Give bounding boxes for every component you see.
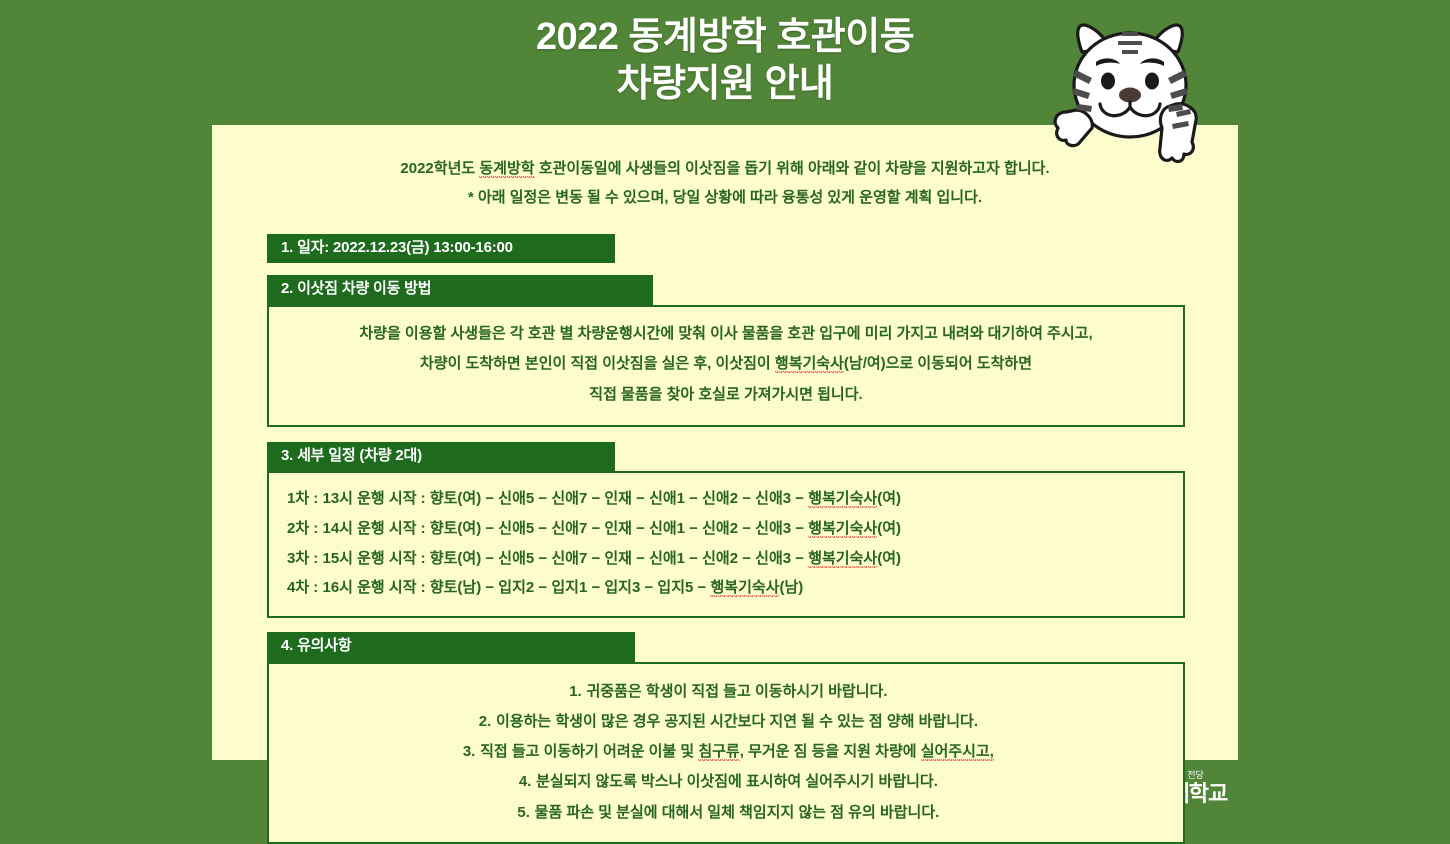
schedule-squiggle-term: 행복기숙사 [808,550,877,568]
schedule-row: 3차 : 15시 운행 시작 : 향토(여) − 신애5 − 신애7 − 인재 … [269,544,1183,574]
note-squiggle-term: 침구류 [698,743,739,761]
note-number: 4. [514,767,536,797]
intro-line-2: * 아래 일정은 변동 될 수 있으며, 당일 상황에 따라 융통성 있게 운영… [212,183,1238,212]
method-line-2: 차량이 도착하면 본인이 직접 이삿짐을 실은 후, 이삿짐이 행복기숙사(남/… [279,349,1173,380]
note-item: 3.직접 들고 이동하기 어려운 이불 및 침구류, 무거운 짐 등을 지원 차… [269,737,1183,767]
title-line-1: 2022 동계방학 호관이동 [0,14,1450,61]
page-title: 2022 동계방학 호관이동 차량지원 안내 [0,14,1450,108]
section-schedule: 3. 세부 일정 (차량 2대) 1차 : 13시 운행 시작 : 향토(여) … [212,427,1238,618]
schedule-row: 1차 : 13시 운행 시작 : 향토(여) − 신애5 − 신애7 − 인재 … [269,484,1183,514]
method-line-1: 차량을 이용할 사생들은 각 호관 별 차량운행시간에 맞춰 이사 물품을 호관… [279,319,1173,350]
intro-squiggle-term: 동계방학 [479,160,534,178]
schedule-squiggle-term: 행복기숙사 [808,520,877,538]
note-text: 분실되지 않도록 박스나 이삿짐에 표시하여 실어주시기 바랍니다. [536,773,938,790]
schedule-row: 4차 : 16시 운행 시작 : 향토(남) − 입지2 − 입지1 − 입지3… [269,573,1183,603]
intro-text: 2022학년도 동계방학 호관이동일에 사생들의 이삿짐을 돕기 위해 아래와 … [212,154,1238,213]
note-number: 2. [474,707,496,737]
schedule-squiggle-term: 행복기숙사 [710,579,779,597]
note-item: 2.이용하는 학생이 많은 경우 공지된 시간보다 지연 될 수 있는 점 양해… [269,707,1183,737]
notice-panel: 2022학년도 동계방학 호관이동일에 사생들의 이삿짐을 돕기 위해 아래와 … [212,125,1238,760]
note-item: 4.분실되지 않도록 박스나 이삿짐에 표시하여 실어주시기 바랍니다. [269,767,1183,797]
note-item: 5.물품 파손 및 분실에 대해서 일체 책임지지 않는 점 유의 바랍니다. [269,798,1183,828]
section-notes-heading: 4. 유의사항 [267,632,635,662]
note-number: 3. [458,737,480,767]
note-number: 5. [513,798,535,828]
section-method: 2. 이삿짐 차량 이동 방법 차량을 이용할 사생들은 각 호관 별 차량운행… [212,263,1238,427]
note-item: 1.귀중품은 학생이 직접 들고 이동하시기 바랍니다. [269,677,1183,707]
section-schedule-heading: 3. 세부 일정 (차량 2대) [267,442,615,472]
note-text: 이용하는 학생이 많은 경우 공지된 시간보다 지연 될 수 있는 점 양해 바… [496,713,978,730]
note-text: 귀중품은 학생이 직접 들고 이동하시기 바랍니다. [586,683,887,700]
note-squiggle-term: 실어주시고, [921,743,994,761]
section-date-heading: 1. 일자: 2022.12.23(금) 13:00-16:00 [267,234,615,264]
method-line-3: 직접 물품을 찾아 호실로 가져가시면 됩니다. [279,380,1173,411]
schedule-squiggle-term: 행복기숙사 [808,490,877,508]
section-method-body: 차량을 이용할 사생들은 각 호관 별 차량운행시간에 맞춰 이사 물품을 호관… [267,305,1185,427]
note-text: 물품 파손 및 분실에 대해서 일체 책임지지 않는 점 유의 바랍니다. [535,804,940,821]
section-schedule-body: 1차 : 13시 운행 시작 : 향토(여) − 신애5 − 신애7 − 인재 … [267,471,1185,618]
section-date: 1. 일자: 2022.12.23(금) 13:00-16:00 [212,213,1238,264]
section-method-heading: 2. 이삿짐 차량 이동 방법 [267,275,653,305]
section-notes: 4. 유의사항 1.귀중품은 학생이 직접 들고 이동하시기 바랍니다. 2.이… [212,618,1238,844]
schedule-row: 2차 : 14시 운행 시작 : 향토(여) − 신애5 − 신애7 − 인재 … [269,514,1183,544]
intro-line-1: 2022학년도 동계방학 호관이동일에 사생들의 이삿짐을 돕기 위해 아래와 … [212,154,1238,183]
title-line-2: 차량지원 안내 [0,61,1450,108]
section-notes-body: 1.귀중품은 학생이 직접 들고 이동하시기 바랍니다. 2.이용하는 학생이 … [267,662,1185,844]
note-number: 1. [564,677,586,707]
note-text: 직접 들고 이동하기 어려운 이불 및 침구류, 무거운 짐 등을 지원 차량에… [480,743,994,761]
method-squiggle-term: 행복기숙사 [775,355,844,373]
